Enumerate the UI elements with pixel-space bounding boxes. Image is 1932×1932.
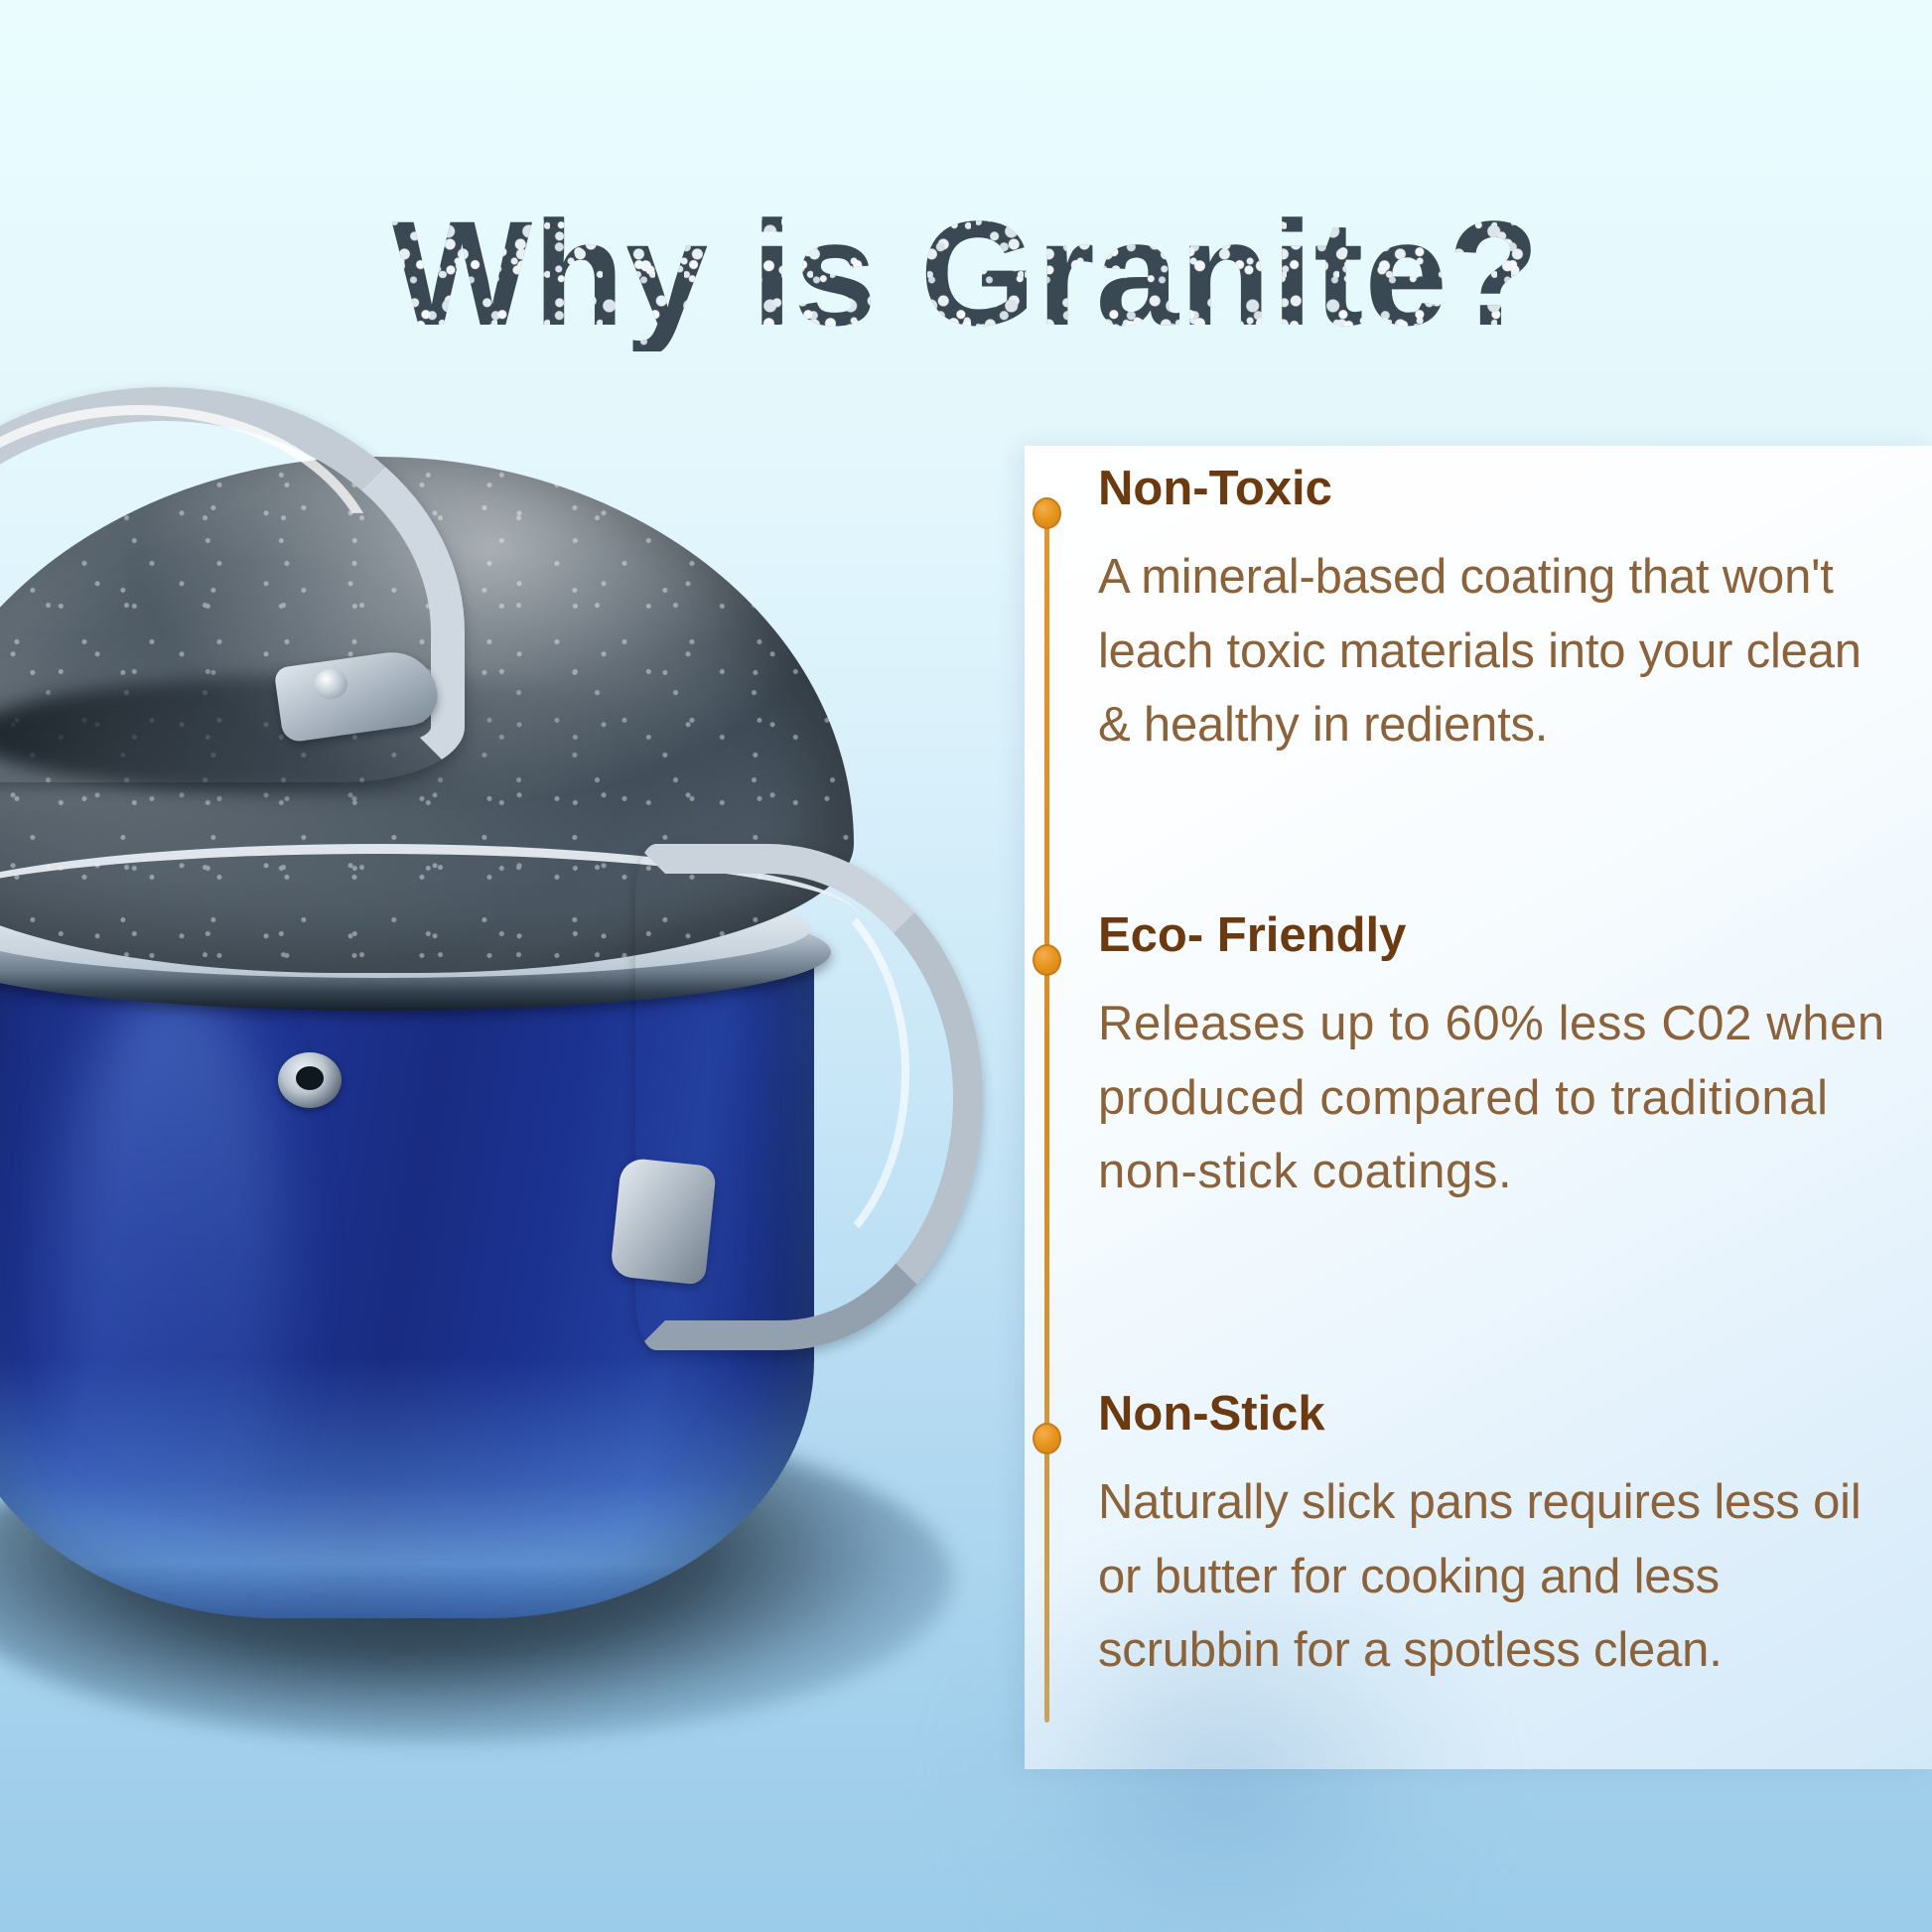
bullet-dot-icon [1033,1423,1061,1454]
feature-item-non-stick: Non-Stick Naturally slick pans requires … [1025,1389,1932,1688]
benefits-panel: Non-Toxic A mineral-based coating that w… [1025,446,1932,1769]
pot-body-highlight [60,983,288,1559]
product-photo-cookware [0,377,1033,1797]
page-title-shadow: Why is Granite? [0,95,1932,252]
page-title: Why is Granite? [392,196,1541,352]
lid-handle-rivet [314,669,347,699]
bullet-dot-icon [1033,497,1061,529]
feature-item-non-toxic: Non-Toxic A mineral-based coating that w… [1025,464,1932,762]
lid-steam-vent-hole [296,1066,324,1090]
feature-list: Non-Toxic A mineral-based coating that w… [1025,446,1932,1769]
feature-body: Eco- Friendly Releases up to 60% less C0… [1098,910,1932,1209]
feature-description: Releases up to 60% less C02 when produce… [1098,987,1904,1208]
pot-side-handle-mount [610,1157,717,1285]
bullet-dot-icon [1033,944,1061,976]
feature-body: Non-Stick Naturally slick pans requires … [1098,1389,1932,1688]
feature-title: Non-Toxic [1098,464,1904,514]
feature-title: Eco- Friendly [1098,910,1904,961]
feature-description: A mineral-based coating that won't leach… [1098,540,1904,761]
feature-title: Non-Stick [1098,1389,1904,1440]
infographic-canvas: Why is Granite? Why is Granite? [0,0,1932,1932]
feature-item-eco-friendly: Eco- Friendly Releases up to 60% less C0… [1025,910,1932,1209]
feature-description: Naturally slick pans requires less oil o… [1098,1465,1904,1687]
feature-body: Non-Toxic A mineral-based coating that w… [1098,464,1932,762]
